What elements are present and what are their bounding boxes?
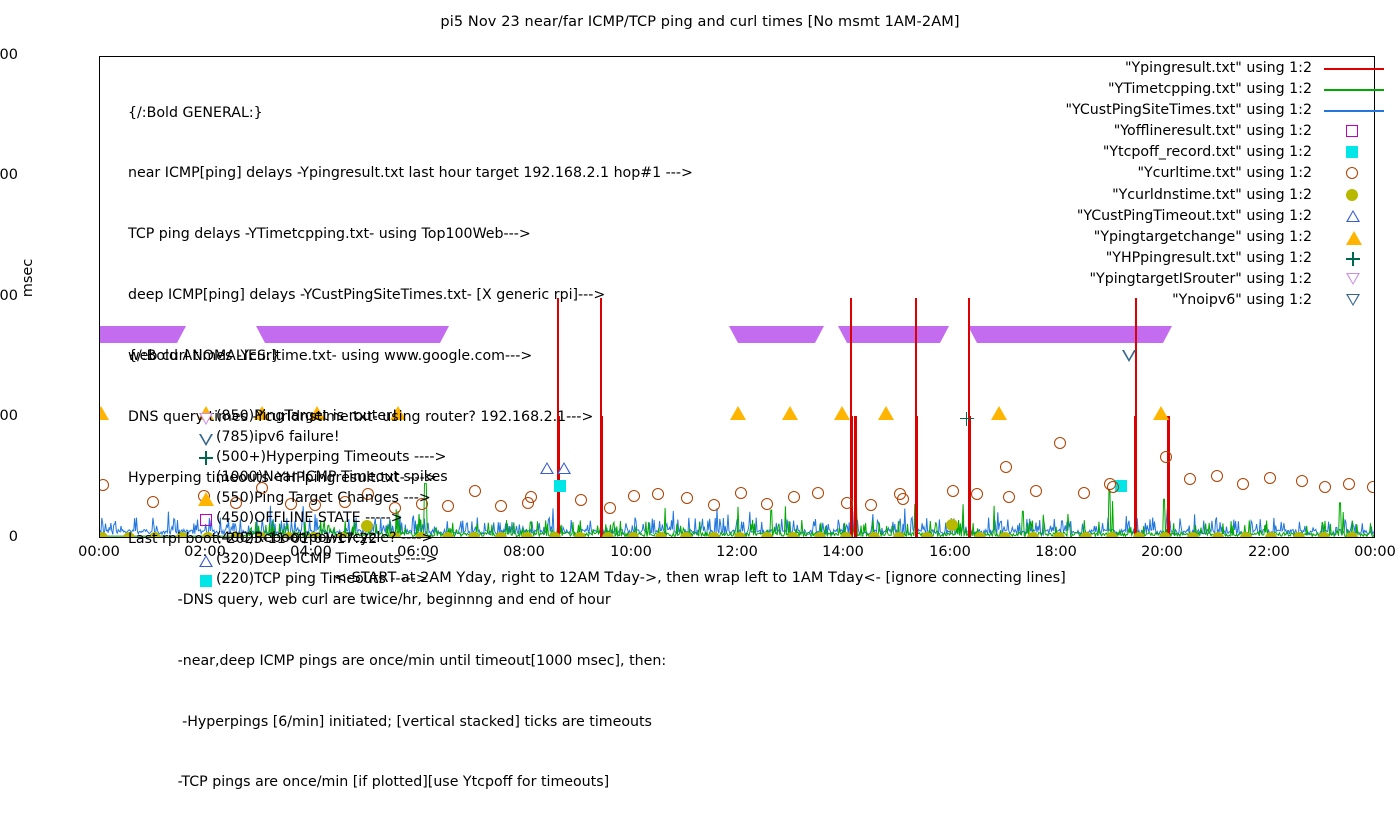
- legend-key: [1324, 290, 1384, 311]
- legend-key: [1324, 163, 1384, 184]
- anomaly-label: (785)ipv6 failure!: [216, 427, 340, 447]
- general-line: near ICMP[ping] delays -Ypingresult.txt …: [128, 163, 693, 183]
- ci-open-icon: [1264, 472, 1276, 484]
- icmp-timeout-spike-partial: [915, 416, 918, 538]
- ci-fill-icon: [921, 532, 933, 538]
- legend-line-swatch: [1324, 68, 1384, 70]
- tri-up-open-icon: [1346, 210, 1360, 222]
- legend-label: "Yofflineresult.txt" using 1:2: [1114, 123, 1312, 139]
- icmp-timeout-spike-partial: [1167, 416, 1170, 538]
- anomaly-label: (850)PingTarget is router!: [216, 406, 398, 426]
- legend-label: "YCustPingTimeout.txt" using 1:2: [1077, 208, 1312, 224]
- y-tick-500: 500: [0, 408, 18, 424]
- ci-fill-icon: [1187, 532, 1199, 538]
- legend-label: "Ynoipv6" using 1:2: [1172, 292, 1312, 308]
- legend-key: [1324, 58, 1384, 79]
- x-tick-2400: 00:00: [1330, 544, 1400, 560]
- tri-up-fill-icon: [1153, 406, 1169, 420]
- anomaly-row: (1000)Near ICMP Timeout spikes: [128, 467, 280, 487]
- tri-up-fill-icon: [1346, 231, 1362, 245]
- chart-root: pi5 Nov 23 near/far ICMP/TCP ping and cu…: [0, 0, 1400, 600]
- legend-line-swatch: [1324, 89, 1384, 91]
- legend-label: "Ycurldnstime.txt" using 1:2: [1112, 187, 1312, 203]
- legend-label: "Ypingtargetchange" using 1:2: [1094, 229, 1312, 245]
- plus-icon: [960, 412, 974, 426]
- legend-key: [1324, 142, 1384, 163]
- plus-icon: [199, 451, 213, 465]
- legend-item[interactable]: "YpingtargetISrouter" using 1:2: [1065, 269, 1312, 290]
- legend-label: "Ycurltime.txt" using 1:2: [1137, 165, 1312, 181]
- sq-open-icon: [200, 514, 212, 526]
- anomaly-row: (450)OFFLINE STATE ----->: [128, 508, 280, 528]
- tri-up-fill-icon: [730, 406, 746, 420]
- ci-fill-icon: [787, 532, 799, 538]
- y-tick-1500: 1500: [0, 167, 18, 183]
- ci-open-icon: [1237, 478, 1249, 490]
- legend-item[interactable]: "Ytcpoff_record.txt" using 1:2: [1065, 142, 1312, 163]
- icmp-timeout-spike-partial: [850, 416, 853, 538]
- anomalies-annotation: {/:Bold ANOMALIES:} (850)PingTarget is r…: [128, 305, 280, 630]
- x-tick-1800: 18:00: [1011, 544, 1101, 560]
- sq-open-icon: [1346, 125, 1358, 137]
- legend-item[interactable]: "Ypingtargetchange" using 1:2: [1065, 227, 1312, 248]
- legend-key: [1324, 79, 1384, 100]
- anomaly-label: (400)Reboot/powercycle? ---->: [216, 528, 433, 548]
- sq-fill-icon: [1346, 146, 1358, 158]
- tri-up-fill-icon: [991, 406, 1007, 420]
- ci-fill-icon: [1293, 532, 1305, 538]
- x-tick-1200: 12:00: [692, 544, 782, 560]
- legend-key: [1324, 121, 1384, 142]
- tri-dn-a-icon: [1346, 273, 1360, 285]
- ci-fill-icon: [946, 519, 958, 531]
- legend-line-swatch: [1324, 110, 1384, 112]
- ci-open-icon: [841, 497, 853, 509]
- tri-up-fill-icon: [878, 406, 894, 420]
- ci-open-icon: [1030, 485, 1042, 497]
- anomalies-heading: {/:Bold ANOMALIES:}: [128, 346, 280, 366]
- x-tick-2200: 22:00: [1224, 544, 1314, 560]
- x-tick-2000: 20:00: [1117, 544, 1207, 560]
- legend-item[interactable]: "YCustPingTimeout.txt" using 1:2: [1065, 206, 1312, 227]
- anomaly-label: (220)TCP ping Timeouts ----->: [216, 569, 428, 589]
- legend-label: "YTimetcpping.txt" using 1:2: [1108, 81, 1312, 97]
- legend-item[interactable]: "YCustPingSiteTimes.txt" using 1:2: [1065, 100, 1312, 121]
- anomaly-row: (785)ipv6 failure!: [128, 427, 280, 447]
- ci-open-icon: [1367, 481, 1375, 493]
- ci-open-icon: [1343, 478, 1355, 490]
- anomaly-row: (550)Ping Target Changes --->: [128, 488, 280, 508]
- pingtarget-router-band: [847, 326, 940, 343]
- ci-open-icon: [99, 479, 109, 491]
- tri-dn-b-icon: [1122, 350, 1136, 362]
- ci-fill-icon: [868, 532, 880, 538]
- general-line: -Hyperpings [6/min] initiated; [vertical…: [128, 712, 693, 732]
- legend-key: [1324, 100, 1384, 121]
- legend-label: "Ypingresult.txt" using 1:2: [1125, 60, 1312, 76]
- legend-key: [1324, 185, 1384, 206]
- legend-key: [1324, 248, 1384, 269]
- general-heading: {/:Bold GENERAL:}: [128, 103, 693, 123]
- ci-fill-icon: [1240, 532, 1252, 538]
- legend-key: [1324, 227, 1384, 248]
- ci-open-icon: [1107, 481, 1119, 493]
- ci-open-icon: [1078, 487, 1090, 499]
- legend-label: "Ytcpoff_record.txt" using 1:2: [1103, 144, 1312, 160]
- tri-up-fill-icon: [99, 406, 109, 420]
- ci-open-icon: [1003, 491, 1015, 503]
- anomaly-row: (850)PingTarget is router!: [128, 406, 280, 426]
- general-line: deep ICMP[ping] delays -YCustPingSiteTim…: [128, 285, 693, 305]
- legend-key: [1324, 269, 1384, 290]
- ci-open-icon: [1160, 451, 1172, 463]
- legend-item[interactable]: "Ycurltime.txt" using 1:2: [1065, 163, 1312, 184]
- chart-legend: "Ypingresult.txt" using 1:2"YTimetcpping…: [1065, 58, 1312, 311]
- ci-open-icon: [1184, 473, 1196, 485]
- tri-dn-a-icon: [199, 413, 213, 425]
- chart-title: pi5 Nov 23 near/far ICMP/TCP ping and cu…: [0, 14, 1400, 30]
- general-line: -TCP pings are once/min [if plotted][use…: [128, 772, 693, 792]
- ci-open-icon: [897, 493, 909, 505]
- anomaly-row: (400)Reboot/powercycle? ---->: [128, 528, 280, 548]
- icmp-timeout-spike-partial: [854, 416, 857, 538]
- ci-fill-icon: [1346, 189, 1358, 201]
- legend-item[interactable]: "Ycurldnstime.txt" using 1:2: [1065, 185, 1312, 206]
- y-tick-2000: 2000: [0, 47, 18, 63]
- icmp-timeout-spike-partial: [1134, 416, 1137, 538]
- ci-open-icon: [735, 487, 747, 499]
- pingtarget-router-band: [738, 326, 815, 343]
- ci-fill-icon: [1106, 532, 1118, 538]
- tri-up-fill-icon: [782, 406, 798, 420]
- x-tick-1400: 14:00: [798, 544, 888, 560]
- legend-label: "YCustPingSiteTimes.txt" using 1:2: [1065, 102, 1312, 118]
- anomaly-row: (220)TCP ping Timeouts ----->: [128, 569, 280, 589]
- legend-label: "YHPpingresult.txt" using 1:2: [1106, 250, 1312, 266]
- anomaly-label: (550)Ping Target Changes --->: [216, 488, 431, 508]
- legend-item[interactable]: "YHPpingresult.txt" using 1:2: [1065, 248, 1312, 269]
- anomaly-row: (500+)Hyperping Timeouts ---->: [128, 447, 280, 467]
- legend-item[interactable]: "Ypingresult.txt" using 1:2: [1065, 58, 1312, 79]
- sq-fill-icon: [200, 575, 212, 587]
- ci-fill-icon: [974, 532, 986, 538]
- x-tick-1600: 16:00: [905, 544, 995, 560]
- general-line: -near,deep ICMP pings are once/min until…: [128, 651, 693, 671]
- ci-fill-icon: [1053, 532, 1065, 538]
- legend-label: "YpingtargetISrouter" using 1:2: [1090, 271, 1312, 287]
- y-tick-0: 0: [0, 529, 18, 545]
- ci-fill-icon: [1159, 532, 1171, 538]
- ci-fill-icon: [840, 532, 852, 538]
- ci-open-icon: [788, 491, 800, 503]
- anomaly-label: (450)OFFLINE STATE ----->: [216, 508, 403, 528]
- tri-dn-b-icon: [1346, 294, 1360, 306]
- legend-key: [1324, 206, 1384, 227]
- anomalies-rows: (850)PingTarget is router!(785)ipv6 fail…: [128, 406, 280, 589]
- anomaly-row: (320)Deep ICMP Timeouts ---->: [128, 549, 280, 569]
- tri-dn-b-icon: [199, 434, 213, 446]
- legend-item[interactable]: "Ynoipv6" using 1:2: [1065, 290, 1312, 311]
- y-tick-1000: 1000: [0, 288, 18, 304]
- y-axis-label: msec: [20, 238, 36, 318]
- legend-item[interactable]: "Yofflineresult.txt" using 1:2: [1065, 121, 1312, 142]
- ci-open-icon: [1211, 470, 1223, 482]
- tri-up-fill-icon: [198, 492, 214, 506]
- tri-up-fill-icon: [834, 406, 850, 420]
- ci-open-icon: [1054, 437, 1066, 449]
- anomaly-label: (320)Deep ICMP Timeouts ---->: [216, 549, 438, 569]
- general-line: TCP ping delays -YTimetcpping.txt- using…: [128, 224, 693, 244]
- anomaly-label: (500+)Hyperping Timeouts ---->: [216, 447, 446, 467]
- ci-fill-icon: [734, 532, 746, 538]
- icmp-timeout-spike-partial: [968, 416, 971, 538]
- ci-open-icon: [1296, 475, 1308, 487]
- ci-open-icon: [812, 487, 824, 499]
- plus-icon: [1346, 252, 1360, 266]
- anomaly-label: (1000)Near ICMP Timeout spikes: [216, 467, 448, 487]
- legend-item[interactable]: "YTimetcpping.txt" using 1:2: [1065, 79, 1312, 100]
- tri-up-open-icon: [199, 555, 213, 567]
- ci-open-icon: [1346, 167, 1358, 179]
